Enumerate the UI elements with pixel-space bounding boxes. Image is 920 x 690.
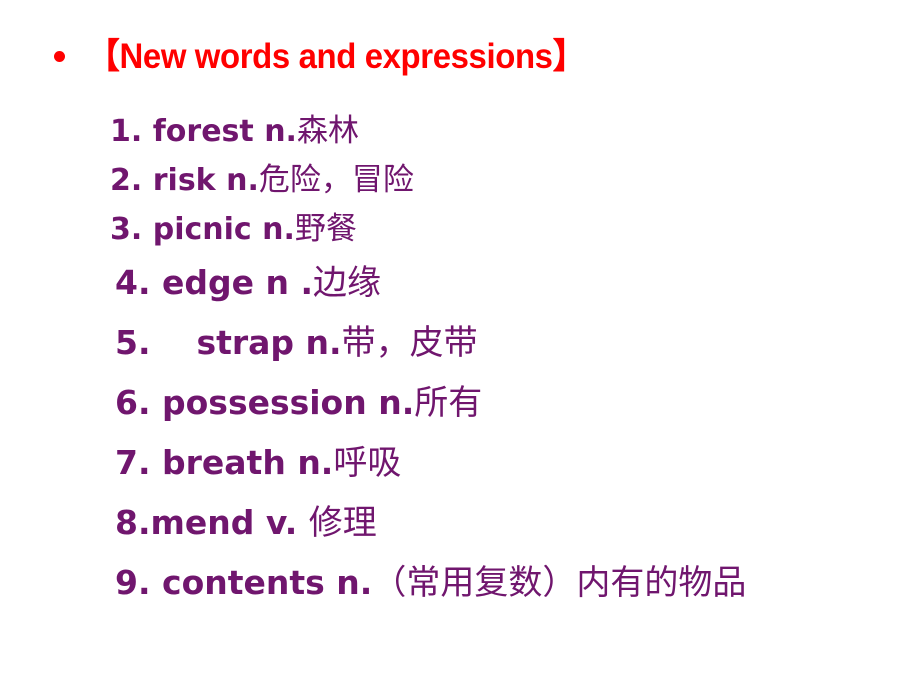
vocab-number: 5.: [115, 323, 151, 362]
vocabulary-list: 1. forest n.森林 2. risk n.危险，冒险 3. picnic…: [60, 86, 900, 593]
vocab-number: 6.: [115, 383, 151, 422]
vocab-meaning: 森林: [297, 113, 359, 149]
vocab-part-of-speech: n.: [286, 443, 334, 482]
vocab-number: 2.: [110, 163, 142, 198]
list-item: 9. contents n.（常用复数）内有的物品: [60, 533, 900, 593]
vocab-meaning: 所有: [414, 383, 482, 423]
vocab-part-of-speech: n.: [216, 163, 259, 198]
vocab-meaning: 修理: [309, 503, 377, 543]
vocab-meaning: 危险，冒险: [259, 162, 414, 198]
vocab-number: 3.: [110, 212, 142, 247]
vocab-meaning: （常用复数）内有的物品: [372, 563, 746, 603]
list-item: 8.mend v. 修理: [60, 473, 900, 533]
vocab-number: 1.: [110, 114, 142, 149]
vocab-meaning: 野餐: [295, 211, 357, 247]
vocab-meaning: 呼吸: [333, 443, 401, 483]
vocab-part-of-speech: n .: [254, 263, 313, 302]
vocab-word: possession: [151, 383, 367, 422]
vocab-word: contents: [151, 563, 325, 602]
vocab-part-of-speech: n.: [325, 563, 373, 602]
list-item: 6. possession n.所有: [60, 353, 900, 413]
vocab-word: breath: [151, 443, 286, 482]
vocab-meaning: 边缘: [313, 263, 381, 303]
vocab-part-of-speech: n.: [252, 212, 295, 247]
vocab-part-of-speech: n.: [294, 323, 342, 362]
vocab-part-of-speech: n.: [254, 114, 297, 149]
vocab-word: risk: [142, 163, 215, 198]
vocab-word: edge: [151, 263, 255, 302]
vocab-number: 9.: [115, 563, 151, 602]
list-item: 1. forest n.森林: [60, 86, 900, 135]
vocab-word: strap: [151, 323, 295, 362]
vocab-meaning: 带，皮带: [342, 323, 478, 363]
vocab-number: 8.: [115, 503, 151, 542]
bullet-point-icon: [54, 51, 65, 62]
vocab-number: 7.: [115, 443, 151, 482]
list-item: 5. strap n.带，皮带: [60, 293, 900, 353]
vocab-part-of-speech: n.: [367, 383, 415, 422]
vocab-word: forest: [142, 114, 253, 149]
slide-canvas: 【New words and expressions】 1. forest n.…: [0, 0, 920, 690]
vocab-word: picnic: [142, 212, 251, 247]
vocab-number: 4.: [115, 263, 151, 302]
vocab-part-of-speech: v.: [254, 503, 308, 542]
slide-title-bullet-row: 【New words and expressions】: [54, 39, 617, 74]
page-title: 【New words and expressions】: [87, 39, 585, 74]
vocab-word: mend: [151, 503, 255, 542]
